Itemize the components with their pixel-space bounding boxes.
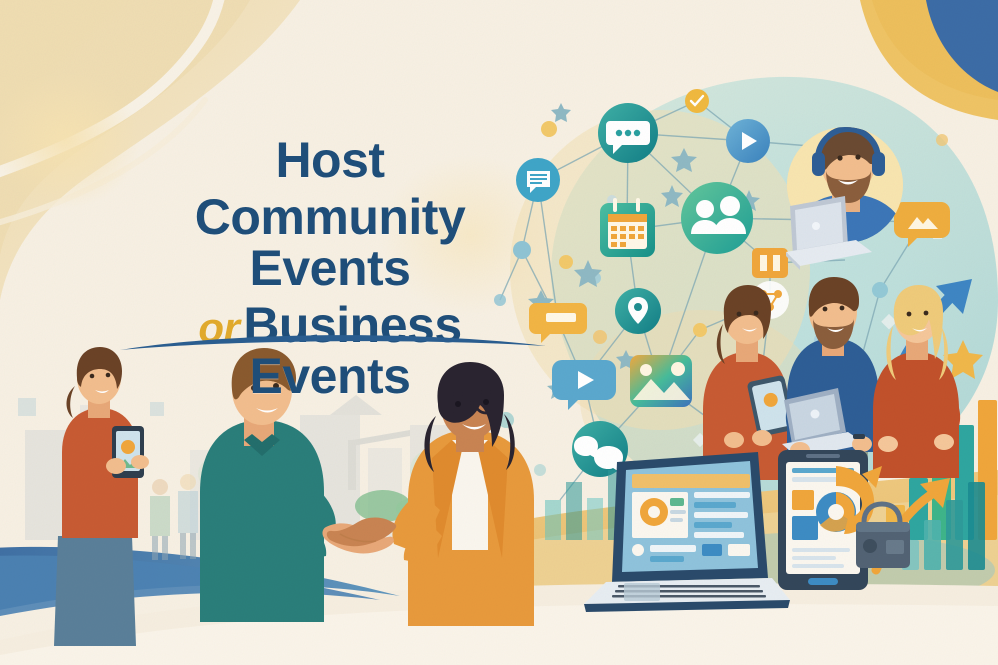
chat-dots-icon (598, 103, 658, 163)
headline-block: Host Community Events orBusiness Events (120, 135, 540, 402)
avatar-laptop (786, 196, 872, 270)
headline-line-2: Community Events (120, 192, 540, 294)
man-laptop-device (782, 388, 866, 458)
mountain-bubble-icon (894, 202, 950, 247)
headline-underline-swoosh (118, 330, 548, 356)
top-right-blue-arc (926, 0, 998, 92)
growth-bar-chart (886, 340, 997, 540)
soft-warm-glow-network-2 (580, 310, 820, 490)
bottom-cream-field-2 (0, 604, 998, 665)
tablet-screen-content (792, 468, 856, 568)
location-pin-icon (615, 288, 661, 334)
play-orange-icon (818, 391, 872, 445)
network-dots (494, 121, 948, 486)
shrub-1 (355, 490, 411, 522)
sand-floor-soft (430, 495, 998, 600)
network-squares (693, 230, 942, 447)
network-connector-lines (500, 101, 922, 500)
top-right-gold-arc (860, 0, 998, 120)
background-bar-chart-left (545, 470, 624, 540)
image-photo-icon (630, 355, 692, 407)
camera-bag (856, 504, 910, 568)
share-nodes-icon (751, 281, 789, 319)
growth-bar-chart-secondary (902, 482, 985, 570)
laptop-keyboard (612, 585, 766, 598)
ground-shadow-teal (645, 532, 995, 608)
soft-teal-glow (560, 110, 980, 490)
bottom-left-blue-wave-2 (0, 555, 380, 618)
tablet-dashboard (778, 450, 882, 590)
man-with-laptop (782, 277, 882, 522)
laptop-dashboard (584, 452, 790, 612)
handshake-hands (322, 518, 396, 554)
people-group-icon (681, 182, 753, 254)
avatar-man-headphones (786, 127, 908, 290)
sand-floor (430, 470, 998, 620)
background-cityscape (18, 395, 456, 540)
hero-illustration: Host Community Events orBusiness Events (0, 0, 998, 665)
blonde-woman (873, 285, 960, 478)
play-bubble-icon (552, 360, 616, 410)
right-teal-blob (551, 77, 998, 500)
smartphone-device (112, 426, 144, 478)
soft-yellow-blob-left (0, 72, 140, 208)
people-small-icon (730, 428, 776, 474)
woman-with-tablet (703, 285, 795, 480)
shrub-2 (396, 498, 432, 520)
bottom-cream-field (0, 583, 998, 665)
background-pedestrians (150, 474, 198, 560)
play-button-icon (726, 119, 770, 163)
bottom-left-blue-wave (0, 547, 400, 612)
growth-arrow-orange (876, 478, 950, 570)
book-icon (752, 248, 788, 278)
calendar-icon (600, 198, 655, 257)
growth-arrow-blue (885, 279, 972, 400)
tablet-device (747, 375, 796, 438)
check-circle-icon (685, 89, 709, 113)
network-stars (528, 103, 760, 489)
headline-line-1: Host (120, 135, 540, 186)
laptop-screen-content (632, 474, 750, 562)
chat-double-icon (572, 421, 628, 477)
top-right-gold-arc-2 (872, 0, 998, 100)
soft-warm-glow-network (510, 110, 810, 430)
